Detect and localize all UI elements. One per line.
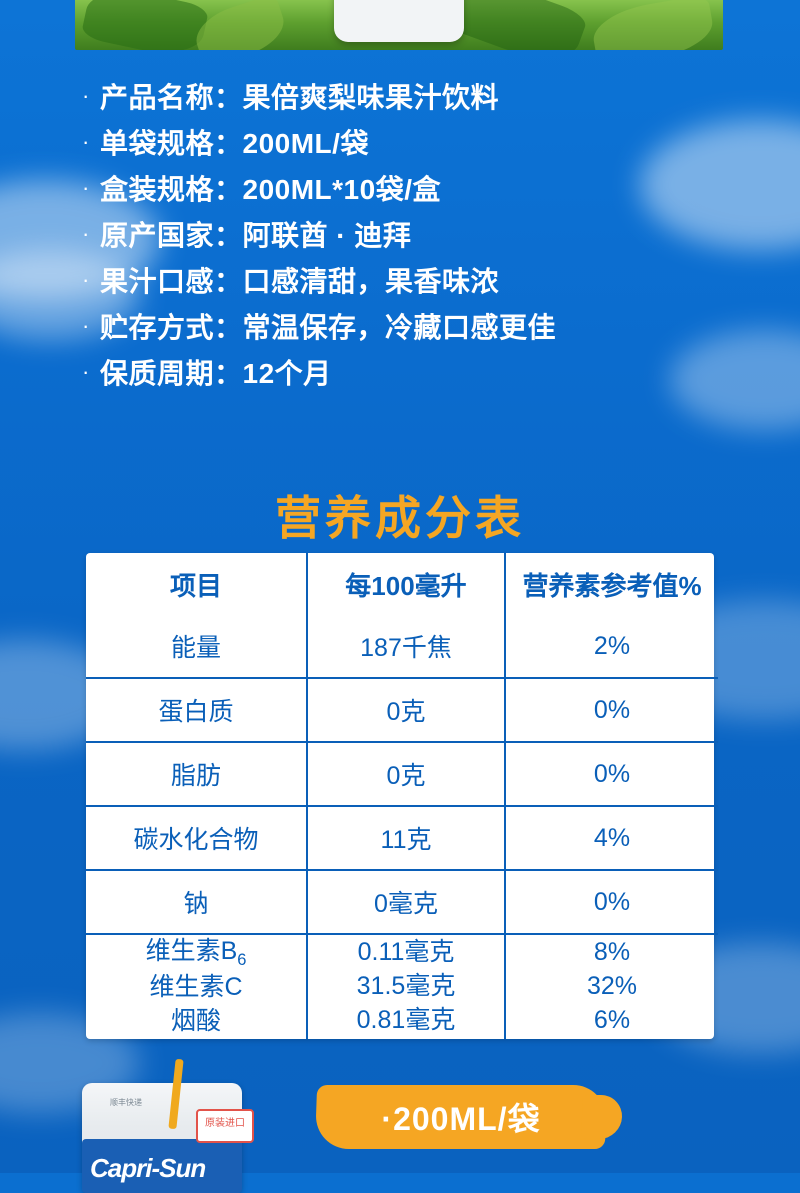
table-header-item: 项目 <box>86 553 307 615</box>
bottom-product-pouch-image: 顺丰快递 Capri-Sun 原装进口 <box>76 1065 248 1185</box>
vitamin-b6-amount: 0.11毫克 <box>308 936 504 970</box>
ribbon-label: ·200ML/袋 <box>316 1085 606 1149</box>
spec-label: 产品名称： <box>100 76 243 116</box>
nutrient-name: 能量 <box>86 615 307 678</box>
spec-label: 单袋规格： <box>100 122 243 162</box>
spec-value: 常温保存，冷藏口感更佳 <box>243 306 557 346</box>
nutrient-amount: 0毫克 <box>307 870 505 934</box>
spec-value: 12个月 <box>243 352 332 392</box>
spec-value: 阿联酋 · 迪拜 <box>243 214 412 254</box>
bullet-icon: · <box>82 223 100 245</box>
nutrition-section-title: 营养成分表 <box>0 482 800 548</box>
niacin-label: 烟酸 <box>86 1005 306 1039</box>
bullet-icon: · <box>82 85 100 107</box>
product-pouch-image: 顺丰快递 <box>334 0 464 42</box>
vitamin-c-nrv: 32% <box>506 970 718 1004</box>
spec-label: 贮存方式： <box>100 306 243 346</box>
foliage-decoration <box>80 0 209 50</box>
spec-label: 果汁口感： <box>100 260 243 300</box>
vitamin-amounts: 0.11毫克 31.5毫克 0.81毫克 <box>307 934 505 1039</box>
nutrient-name: 碳水化合物 <box>86 806 307 870</box>
nutrient-amount: 187千焦 <box>307 615 505 678</box>
spec-value: 200ML/袋 <box>243 122 369 162</box>
nutrient-name: 钠 <box>86 870 307 934</box>
pouch-brand-text: Capri-Sun <box>90 1153 240 1184</box>
table-row: 能量 187千焦 2% <box>86 615 718 678</box>
table-row: 碳水化合物 11克 4% <box>86 806 718 870</box>
volume-ribbon: ·200ML/袋 <box>316 1085 606 1149</box>
table-row-vitamins: 维生素B6 维生素C 烟酸 0.11毫克 31.5毫克 0.81毫克 8% 32… <box>86 934 718 1039</box>
vitamin-b6-label: 维生素B6 <box>86 935 306 971</box>
spec-label: 盒装规格： <box>100 168 243 208</box>
spec-row-single-pouch-size: · 单袋规格： 200ML/袋 <box>82 122 732 162</box>
nutrient-nrv: 0% <box>505 678 718 742</box>
spec-row-storage: · 贮存方式： 常温保存，冷藏口感更佳 <box>82 306 732 346</box>
nutrient-amount: 11克 <box>307 806 505 870</box>
spec-row-origin-country: · 原产国家： 阿联酋 · 迪拜 <box>82 214 732 254</box>
bullet-icon: · <box>82 177 100 199</box>
nutrient-nrv: 0% <box>505 870 718 934</box>
spec-row-product-name: · 产品名称： 果倍爽梨味果汁饮料 <box>82 76 732 116</box>
nutrient-name: 蛋白质 <box>86 678 307 742</box>
nutrient-name: 脂肪 <box>86 742 307 806</box>
table-row: 脂肪 0克 0% <box>86 742 718 806</box>
foliage-decoration <box>589 0 717 50</box>
bullet-icon: · <box>82 131 100 153</box>
nutrient-nrv: 4% <box>505 806 718 870</box>
spec-value: 200ML*10袋/盒 <box>243 168 441 208</box>
niacin-nrv: 6% <box>506 1004 718 1038</box>
niacin-amount: 0.81毫克 <box>308 1004 504 1038</box>
bullet-icon: · <box>82 361 100 383</box>
product-photo-band: 顺丰快递 <box>75 0 723 50</box>
nutrient-nrv: 2% <box>505 615 718 678</box>
spec-label: 保质周期： <box>100 352 243 392</box>
spec-row-taste: · 果汁口感： 口感清甜，果香味浓 <box>82 260 732 300</box>
spec-row-box-size: · 盒装规格： 200ML*10袋/盒 <box>82 168 732 208</box>
vitamin-c-amount: 31.5毫克 <box>308 970 504 1004</box>
product-spec-list: · 产品名称： 果倍爽梨味果汁饮料 · 单袋规格： 200ML/袋 · 盒装规格… <box>82 76 732 398</box>
bullet-icon: · <box>82 269 100 291</box>
table-header-nrv: 营养素参考值% <box>505 553 718 615</box>
subscript-6: 6 <box>237 951 246 969</box>
spec-label: 原产国家： <box>100 214 243 254</box>
vitamin-b6-nrv: 8% <box>506 936 718 970</box>
import-badge: 原装进口 <box>196 1109 254 1143</box>
nutrition-facts-table: 项目 每100毫升 营养素参考值% 能量 187千焦 2% 蛋白质 0克 0% … <box>86 553 714 1039</box>
table-row: 钠 0毫克 0% <box>86 870 718 934</box>
table-header-row: 项目 每100毫升 营养素参考值% <box>86 553 718 615</box>
pouch-top-caption: 顺丰快递 <box>110 1097 142 1108</box>
table-header-per100: 每100毫升 <box>307 553 505 615</box>
nutrient-nrv: 0% <box>505 742 718 806</box>
vitamin-names: 维生素B6 维生素C 烟酸 <box>86 934 307 1039</box>
vitamin-nrv-values: 8% 32% 6% <box>505 934 718 1039</box>
table-row: 蛋白质 0克 0% <box>86 678 718 742</box>
foliage-decoration <box>189 0 290 50</box>
spec-value: 口感清甜，果香味浓 <box>243 260 500 300</box>
nutrient-amount: 0克 <box>307 678 505 742</box>
vitamin-c-label: 维生素C <box>86 971 306 1005</box>
bullet-icon: · <box>82 315 100 337</box>
nutrient-amount: 0克 <box>307 742 505 806</box>
spec-row-shelf-life: · 保质周期： 12个月 <box>82 352 732 392</box>
spec-value: 果倍爽梨味果汁饮料 <box>243 76 500 116</box>
